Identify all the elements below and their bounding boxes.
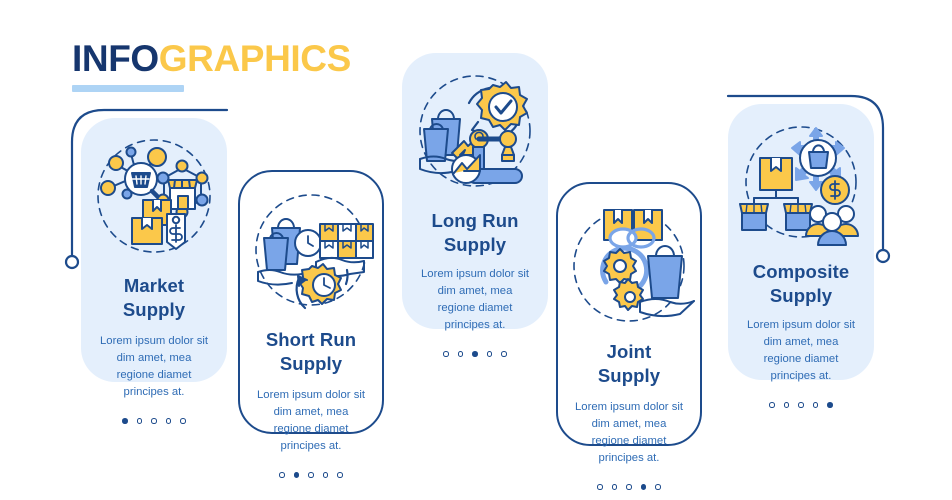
step-dot-3[interactable] <box>798 402 804 408</box>
step-dot-3[interactable] <box>151 418 157 424</box>
step-dot-2[interactable] <box>137 418 143 424</box>
step-dot-5[interactable] <box>180 418 186 424</box>
card-title-line1: Market <box>124 275 184 296</box>
card-body-text: Lorem ipsum dolor sit dim amet, mea regi… <box>240 387 382 454</box>
step-dot-4[interactable] <box>323 472 329 478</box>
step-dot-5[interactable] <box>827 402 833 408</box>
card-title-line2: Supply <box>123 299 185 320</box>
card-title: Composite Supply <box>747 260 856 307</box>
step-dot-5[interactable] <box>337 472 343 478</box>
step-dot-1[interactable] <box>769 402 775 408</box>
card-title: Market Supply <box>117 274 191 321</box>
step-dot-2[interactable] <box>294 472 300 478</box>
step-indicator[interactable] <box>279 472 343 478</box>
card-title-line2: Supply <box>770 285 832 306</box>
step-dot-4[interactable] <box>166 418 172 424</box>
short-run-supply-icon <box>244 186 378 318</box>
title-part-graphics: GRAPHICS <box>159 38 351 79</box>
page-title: INFOGRAPHICS <box>72 40 351 92</box>
card-body-text: Lorem ipsum dolor sit dim amet, mea regi… <box>728 317 874 384</box>
card-body-text: Lorem ipsum dolor sit dim amet, mea regi… <box>402 266 548 333</box>
step-indicator[interactable] <box>597 484 661 490</box>
step-dot-1[interactable] <box>443 351 449 357</box>
card-joint-supply[interactable]: Joint Supply Lorem ipsum dolor sit dim a… <box>556 182 702 446</box>
card-long-run-supply[interactable]: Long Run Supply Lorem ipsum dolor sit di… <box>402 53 548 329</box>
step-indicator[interactable] <box>769 402 833 408</box>
card-title: Long Run Supply <box>425 209 524 256</box>
market-supply-icon <box>87 132 221 264</box>
step-dot-4[interactable] <box>813 402 819 408</box>
card-body-text: Lorem ipsum dolor sit dim amet, mea regi… <box>558 399 700 466</box>
card-title-line1: Long Run <box>431 210 518 231</box>
card-title-line2: Supply <box>280 353 342 374</box>
step-dot-2[interactable] <box>784 402 790 408</box>
title-underline-rule <box>72 85 184 92</box>
start-node-circle <box>66 256 78 268</box>
infographic-canvas: INFOGRAPHICS <box>0 0 952 500</box>
joint-supply-icon <box>562 198 696 330</box>
card-title-line1: Composite <box>753 261 850 282</box>
card-title-line2: Supply <box>598 365 660 386</box>
step-indicator[interactable] <box>122 418 186 424</box>
title-text: INFOGRAPHICS <box>72 40 351 77</box>
card-market-supply[interactable]: Market Supply Lorem ipsum dolor sit dim … <box>81 118 227 382</box>
step-dot-4[interactable] <box>641 484 647 490</box>
card-title: Joint Supply <box>592 340 666 387</box>
step-dot-2[interactable] <box>612 484 618 490</box>
card-short-run-supply[interactable]: Short Run Supply Lorem ipsum dolor sit d… <box>238 170 384 434</box>
step-dot-2[interactable] <box>458 351 464 357</box>
long-run-supply-icon <box>408 67 542 199</box>
step-dot-5[interactable] <box>655 484 661 490</box>
step-dot-3[interactable] <box>308 472 314 478</box>
composite-supply-icon <box>734 118 868 250</box>
step-dot-1[interactable] <box>279 472 285 478</box>
step-dot-4[interactable] <box>487 351 493 357</box>
step-dot-1[interactable] <box>597 484 603 490</box>
card-composite-supply[interactable]: Composite Supply Lorem ipsum dolor sit d… <box>728 104 874 380</box>
step-dot-1[interactable] <box>122 418 128 424</box>
step-dot-3[interactable] <box>472 351 478 357</box>
card-title-line1: Joint <box>607 341 652 362</box>
step-indicator[interactable] <box>443 351 507 357</box>
card-title-line2: Supply <box>444 234 506 255</box>
title-part-info: INFO <box>72 38 159 79</box>
card-title-line1: Short Run <box>266 329 356 350</box>
card-title: Short Run Supply <box>260 328 362 375</box>
end-node-circle <box>877 250 889 262</box>
step-dot-3[interactable] <box>626 484 632 490</box>
card-body-text: Lorem ipsum dolor sit dim amet, mea regi… <box>81 333 227 400</box>
step-dot-5[interactable] <box>501 351 507 357</box>
